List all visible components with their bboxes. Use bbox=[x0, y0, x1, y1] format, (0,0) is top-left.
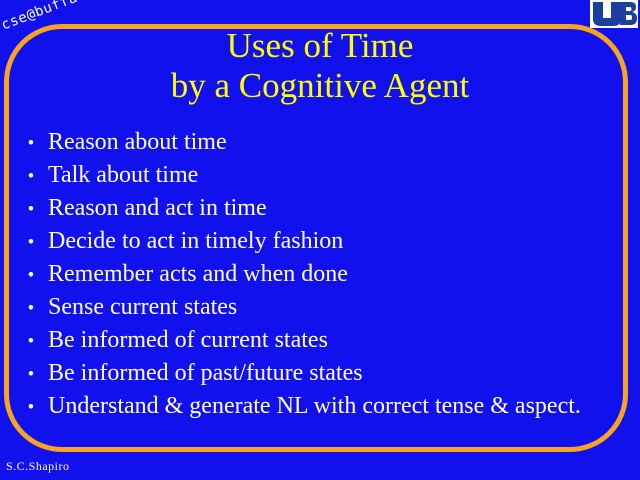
list-item: • Sense current states bbox=[14, 291, 626, 324]
bullet-marker-icon: • bbox=[14, 193, 48, 226]
list-item: • Reason about time bbox=[14, 126, 626, 159]
bullet-marker-icon: • bbox=[14, 160, 48, 193]
list-item: • Remember acts and when done bbox=[14, 258, 626, 291]
list-item: • Talk about time bbox=[14, 159, 626, 192]
list-item-label: Decide to act in timely fashion bbox=[48, 225, 343, 258]
list-item: • Decide to act in timely fashion bbox=[14, 225, 626, 258]
list-item: • Be informed of past/future states bbox=[14, 357, 626, 390]
list-item-label: Be informed of current states bbox=[48, 324, 328, 357]
presentation-slide: cse@buffalo Uses of Time by a Cognitive … bbox=[0, 0, 640, 480]
list-item-label: Be informed of past/future states bbox=[48, 357, 363, 390]
bullet-marker-icon: • bbox=[14, 292, 48, 325]
title-line-1: Uses of Time bbox=[0, 26, 640, 66]
ub-logo-icon bbox=[590, 0, 638, 28]
slide-title: Uses of Time by a Cognitive Agent bbox=[0, 26, 640, 106]
bullet-marker-icon: • bbox=[14, 226, 48, 259]
list-item-label: Reason and act in time bbox=[48, 192, 267, 225]
list-item-label: Understand & generate NL with correct te… bbox=[48, 390, 581, 423]
list-item-label: Reason about time bbox=[48, 126, 227, 159]
ub-logo bbox=[590, 0, 638, 28]
list-item: • Reason and act in time bbox=[14, 192, 626, 225]
list-item-label: Remember acts and when done bbox=[48, 258, 348, 291]
list-item: • Understand & generate NL with correct … bbox=[14, 390, 626, 423]
title-line-2: by a Cognitive Agent bbox=[0, 66, 640, 106]
slide-footer-author: S.C.Shapiro bbox=[6, 459, 70, 474]
bullet-list: • Reason about time • Talk about time • … bbox=[14, 126, 626, 423]
bullet-marker-icon: • bbox=[14, 391, 48, 424]
bullet-marker-icon: • bbox=[14, 259, 48, 292]
list-item: • Be informed of current states bbox=[14, 324, 626, 357]
list-item-label: Sense current states bbox=[48, 291, 237, 324]
list-item-label: Talk about time bbox=[48, 159, 198, 192]
bullet-marker-icon: • bbox=[14, 127, 48, 160]
bullet-marker-icon: • bbox=[14, 358, 48, 391]
bullet-marker-icon: • bbox=[14, 325, 48, 358]
